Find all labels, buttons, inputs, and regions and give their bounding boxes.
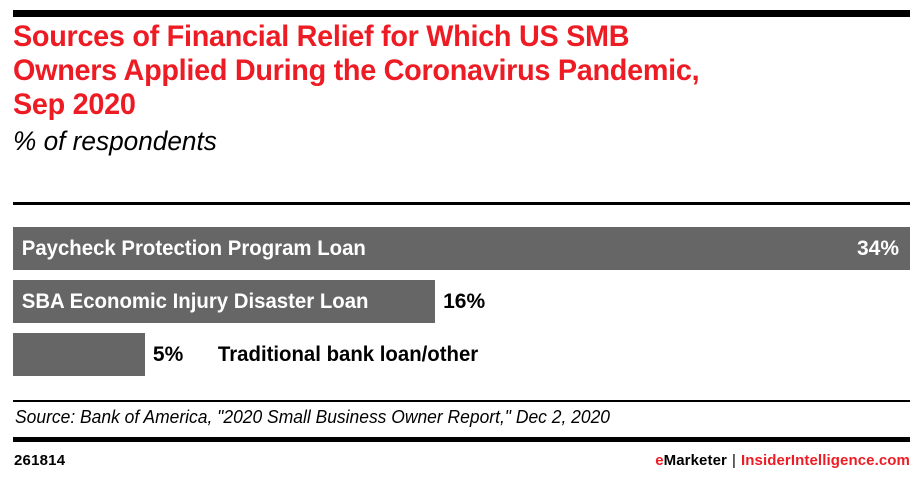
bar-row: SBA Economic Injury Disaster Loan 16%: [13, 280, 910, 323]
brand-separator: |: [727, 452, 741, 469]
bar-chart-plot: Paycheck Protection Program Loan 34% SBA…: [13, 227, 910, 386]
brand-website-link[interactable]: InsiderIntelligence.com: [741, 452, 910, 469]
bar-row: Paycheck Protection Program Loan 34%: [13, 227, 910, 270]
title-line-1: Sources of Financial Relief for Which US…: [13, 20, 877, 54]
chart-card: Sources of Financial Relief for Which US…: [0, 0, 922, 481]
chart-header: Sources of Financial Relief for Which US…: [13, 20, 913, 156]
bar-traditional-bank-loan-other: [13, 333, 145, 376]
bar-label: SBA Economic Injury Disaster Loan: [13, 290, 368, 314]
bar-paycheck-protection-program-loan: Paycheck Protection Program Loan 34%: [13, 227, 910, 270]
subtitle-rule: [13, 202, 910, 205]
chart-id: 261814: [14, 452, 65, 469]
page-title: Sources of Financial Relief for Which US…: [13, 20, 877, 123]
bar-sba-economic-injury-disaster-loan: SBA Economic Injury Disaster Loan: [13, 280, 435, 323]
bar-label: Paycheck Protection Program Loan: [13, 237, 366, 261]
bar-value: 34%: [857, 237, 910, 261]
title-line-3: Sep 2020: [13, 88, 877, 122]
brand-emarketer-rest: Marketer: [664, 452, 727, 469]
footer-rule: [13, 437, 910, 442]
brand-emarketer-e: e: [655, 452, 663, 469]
title-line-2: Owners Applied During the Coronavirus Pa…: [13, 54, 877, 88]
bar-label: Traditional bank loan/other: [183, 343, 478, 367]
source-note: Source: Bank of America, "2020 Small Bus…: [15, 407, 610, 428]
chart-subtitle: % of respondents: [13, 127, 886, 157]
bar-value: 16%: [435, 290, 485, 314]
source-rule: [13, 400, 910, 402]
bar-row: 5% Traditional bank loan/other: [13, 333, 910, 376]
top-rule: [13, 10, 910, 17]
brand-attribution: eMarketer|InsiderIntelligence.com: [655, 452, 910, 469]
bar-value: 5%: [145, 343, 183, 367]
